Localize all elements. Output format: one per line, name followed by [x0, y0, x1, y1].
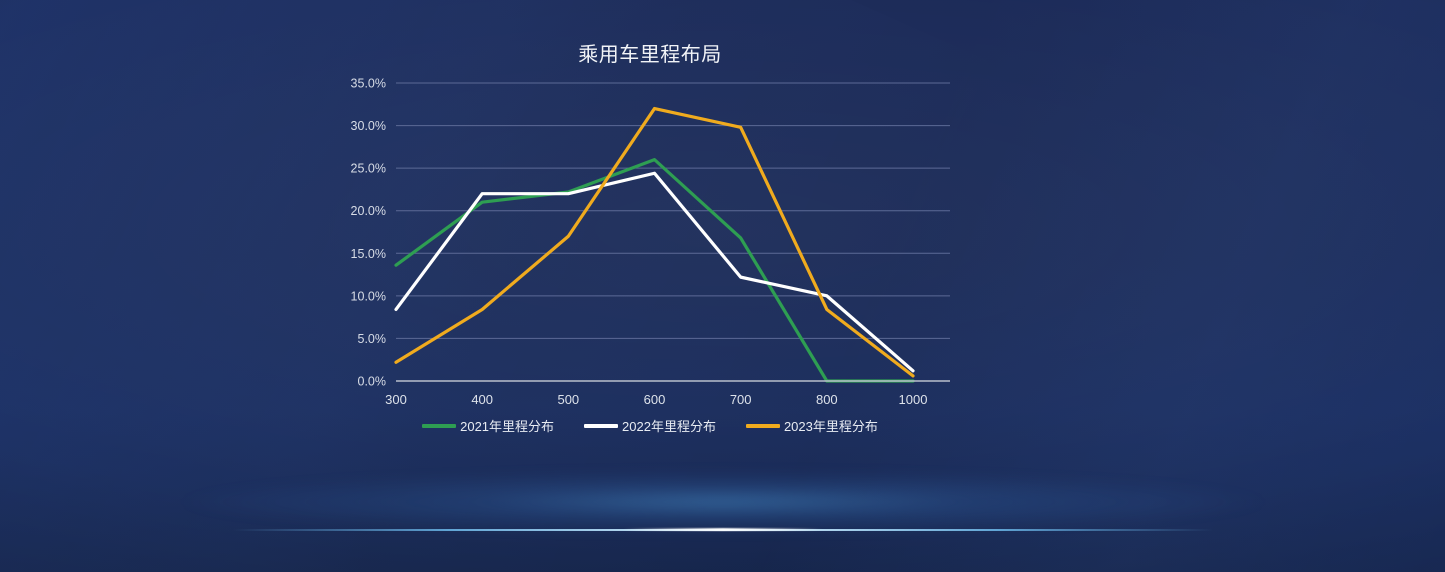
x-axis-tick-label: 400 — [471, 392, 493, 407]
series-line-group — [396, 109, 913, 381]
legend-item[interactable]: 2022年里程分布 — [584, 416, 716, 435]
y-axis-tick-label: 0.0% — [358, 375, 387, 389]
y-axis-tick-label: 10.0% — [351, 289, 386, 303]
glow-line — [233, 529, 1213, 531]
x-axis-tick-label: 1000 — [899, 392, 928, 407]
glow-core — [623, 528, 823, 531]
series-line — [396, 109, 913, 376]
x-axis-tick-label: 600 — [644, 392, 666, 407]
x-axis-tick-label: 500 — [557, 392, 579, 407]
glow-halo — [173, 470, 1273, 534]
legend-item[interactable]: 2021年里程分布 — [422, 416, 554, 435]
y-axis-tick-label: 20.0% — [351, 204, 386, 218]
legend-color-swatch — [422, 424, 456, 428]
x-axis-tick-label: 300 — [385, 392, 407, 407]
legend-item[interactable]: 2023年里程分布 — [746, 416, 878, 435]
legend-label: 2021年里程分布 — [460, 416, 554, 435]
chart-legend: 2021年里程分布2022年里程分布2023年里程分布 — [330, 416, 970, 435]
chart-plot-area: 0.0%5.0%10.0%15.0%20.0%25.0%30.0%35.0% 3… — [330, 18, 970, 443]
slide-canvas: 乘用车里程布局 0.0%5.0%10.0%15.0%20.0%25.0%30.0… — [0, 0, 1445, 572]
y-axis-tick-label: 25.0% — [351, 162, 386, 176]
series-line — [396, 173, 913, 371]
y-axis-tick-label: 35.0% — [351, 77, 386, 91]
bottom-glow — [0, 462, 1445, 572]
x-axis-tick-label: 800 — [816, 392, 838, 407]
legend-color-swatch — [746, 424, 780, 428]
line-chart: 乘用车里程布局 0.0%5.0%10.0%15.0%20.0%25.0%30.0… — [330, 18, 970, 443]
legend-label: 2022年里程分布 — [622, 416, 716, 435]
y-axis-tick-label: 30.0% — [351, 119, 386, 133]
legend-label: 2023年里程分布 — [784, 416, 878, 435]
x-axis-tick-labels: 3004005006007008001000 — [385, 392, 927, 407]
y-axis-tick-label: 15.0% — [351, 247, 386, 261]
series-line — [396, 160, 913, 381]
legend-color-swatch — [584, 424, 618, 428]
gridline-group — [396, 83, 950, 338]
y-axis-tick-label: 5.0% — [358, 332, 387, 346]
x-axis-tick-label: 700 — [730, 392, 752, 407]
y-axis-tick-labels: 0.0%5.0%10.0%15.0%20.0%25.0%30.0%35.0% — [351, 77, 386, 389]
